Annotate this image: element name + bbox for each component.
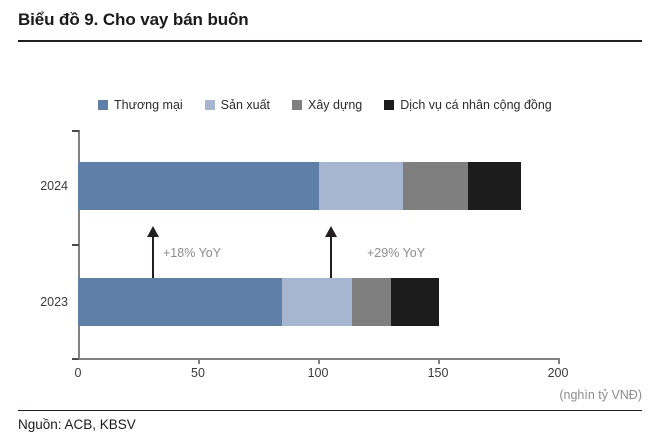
annotation-label-1: +18% YoY — [163, 246, 221, 260]
y-axis-tick — [72, 130, 79, 132]
bar-segment-dich-vu-2024[interactable] — [468, 162, 521, 210]
annotation-arrow-line-1 — [152, 235, 154, 278]
bar-segment-san-xuat-2023[interactable] — [282, 278, 352, 326]
y-category-label-2023: 2023 — [40, 295, 68, 309]
bar-stack-2023[interactable] — [78, 278, 439, 326]
x-axis-tick — [78, 352, 80, 359]
chart-plot-area: 0 50 100 150 200 2024 2023 +18% YoY +29%… — [0, 0, 660, 441]
x-axis-tick — [558, 358, 560, 364]
bar-segment-xay-dung-2024[interactable] — [403, 162, 468, 210]
y-axis-tick — [72, 244, 79, 246]
bar-segment-thuong-mai-2024[interactable] — [78, 162, 319, 210]
annotation-arrow-line-2 — [330, 235, 332, 278]
x-axis-tick — [198, 358, 200, 364]
bar-segment-dich-vu-2023[interactable] — [391, 278, 439, 326]
footer-divider — [18, 410, 642, 411]
x-axis-tick — [438, 358, 440, 364]
unit-label: (nghìn tỷ VNĐ) — [559, 388, 642, 402]
x-tick-label: 150 — [428, 366, 449, 380]
x-tick-label: 200 — [548, 366, 569, 380]
bar-stack-2024[interactable] — [78, 162, 521, 210]
bar-segment-xay-dung-2023[interactable] — [352, 278, 390, 326]
annotation-label-2: +29% YoY — [367, 246, 425, 260]
x-axis-tick — [318, 358, 320, 364]
y-category-label-2024: 2024 — [40, 179, 68, 193]
x-tick-label: 50 — [191, 366, 205, 380]
source-label: Nguồn: ACB, KBSV — [18, 417, 136, 432]
x-tick-label: 0 — [75, 366, 82, 380]
x-tick-label: 100 — [308, 366, 329, 380]
bar-segment-thuong-mai-2023[interactable] — [78, 278, 282, 326]
bar-segment-san-xuat-2024[interactable] — [319, 162, 403, 210]
